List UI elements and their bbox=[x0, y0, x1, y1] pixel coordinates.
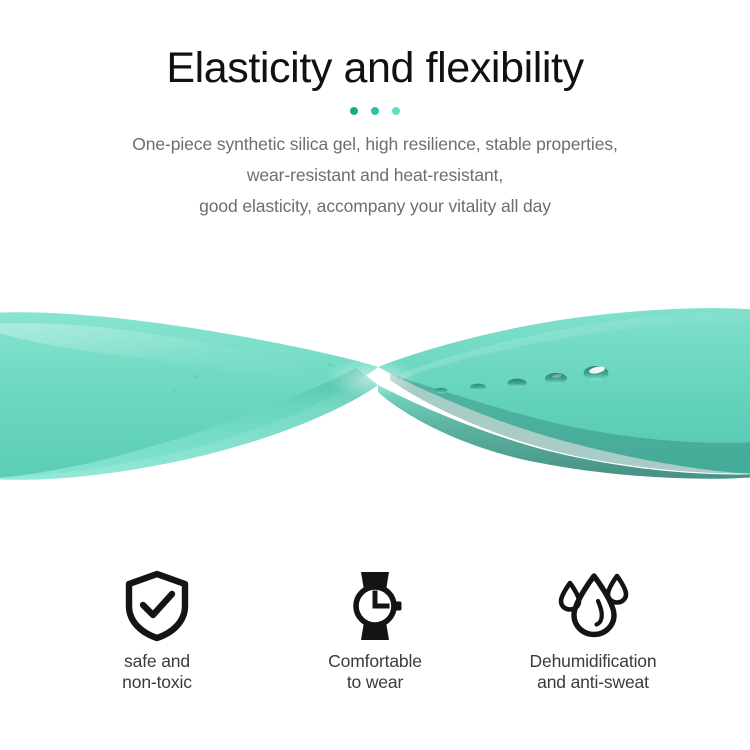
feature-label-dehumidification: Dehumidification and anti-sweat bbox=[530, 651, 657, 693]
product-hero-image bbox=[0, 262, 750, 524]
product-feature-page: Elasticity and flexibility One-piece syn… bbox=[0, 0, 750, 750]
feature-comfortable-to-wear: Comfortable to wear bbox=[266, 570, 484, 693]
accent-dot-3 bbox=[392, 107, 400, 115]
feature-label-safe-non-toxic: safe and non-toxic bbox=[122, 651, 192, 693]
description-text: One-piece synthetic silica gel, high res… bbox=[45, 129, 705, 222]
feature-label-line-2: and anti-sweat bbox=[530, 672, 657, 693]
band-hole-2 bbox=[470, 384, 486, 391]
description-line-1: One-piece synthetic silica gel, high res… bbox=[45, 129, 705, 160]
feature-dehumidification: Dehumidification and anti-sweat bbox=[484, 570, 702, 693]
page-title: Elasticity and flexibility bbox=[0, 0, 750, 92]
water-droplets-icon bbox=[553, 570, 633, 642]
description-line-3: good elasticity, accompany your vitality… bbox=[45, 191, 705, 222]
band-hole-3 bbox=[508, 379, 527, 388]
band-hole-1 bbox=[435, 388, 448, 393]
shield-check-icon bbox=[123, 570, 191, 642]
twisted-band-illustration bbox=[0, 262, 750, 524]
accent-dot-2 bbox=[371, 107, 379, 115]
feature-list: safe and non-toxic bbox=[0, 570, 750, 720]
description-line-2: wear-resistant and heat-resistant, bbox=[45, 160, 705, 191]
band-twist-highlight bbox=[326, 358, 418, 398]
wristwatch-icon bbox=[341, 570, 409, 642]
feature-icon-wrap bbox=[553, 570, 633, 642]
feature-safe-non-toxic: safe and non-toxic bbox=[48, 570, 266, 693]
feature-label-line-1: Dehumidification bbox=[530, 651, 657, 672]
accent-dots bbox=[340, 106, 410, 116]
accent-dot-1 bbox=[350, 107, 358, 115]
feature-icon-wrap bbox=[341, 570, 409, 642]
feature-label-line-2: to wear bbox=[328, 672, 422, 693]
header-section: Elasticity and flexibility One-piece syn… bbox=[0, 0, 750, 222]
feature-label-line-1: Comfortable bbox=[328, 651, 422, 672]
feature-label-line-2: non-toxic bbox=[122, 672, 192, 693]
feature-icon-wrap bbox=[123, 570, 191, 642]
feature-label-comfortable-to-wear: Comfortable to wear bbox=[328, 651, 422, 693]
feature-label-line-1: safe and bbox=[122, 651, 192, 672]
